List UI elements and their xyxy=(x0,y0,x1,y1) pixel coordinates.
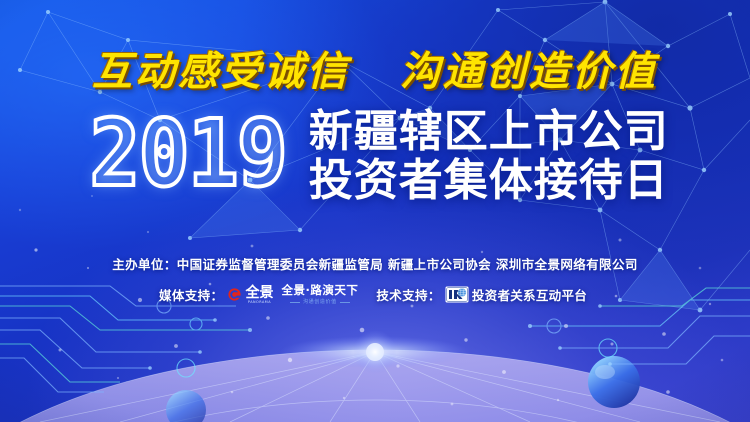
panorama-wordmark: 全景 PANORAMA xyxy=(245,286,273,304)
title-line-2: 投资者集体接待日 xyxy=(309,157,669,204)
panorama-slogan: 全景·路演天下 沟通创造价值 xyxy=(281,285,358,305)
promotional-banner: 互动感受诚信 沟通创造价值 2019 新疆辖区上市公司 投资者集体接待日 主办单… xyxy=(0,0,750,422)
tech-support-label: 技术支持： xyxy=(376,285,441,304)
panorama-name-cn: 全景 xyxy=(245,286,273,300)
main-title: 新疆辖区上市公司 投资者集体接待日 xyxy=(309,108,669,204)
panorama-logo: 全景 PANORAMA xyxy=(227,286,273,304)
slogan-part-2: 沟通创造价值 xyxy=(400,48,658,95)
panorama-swirl-icon xyxy=(227,287,242,302)
title-block: 2019 新疆辖区上市公司 投资者集体接待日 xyxy=(0,108,750,204)
panorama-slogan-main: 全景·路演天下 xyxy=(281,285,358,297)
ir-platform-label: 投资者关系互动平台 xyxy=(472,285,587,304)
panorama-slogan-sub: 沟通创造价值 xyxy=(303,300,337,305)
slogan-rule-right xyxy=(340,302,350,303)
ir-badge-icon xyxy=(445,286,469,303)
slogan-part-1: 互动感受诚信 xyxy=(92,48,350,95)
slogan-rule-left xyxy=(290,302,300,303)
panorama-name-pinyin: PANORAMA xyxy=(248,301,271,304)
title-line-1: 新疆辖区上市公司 xyxy=(309,108,669,155)
slogan-headline: 互动感受诚信 沟通创造价值 xyxy=(0,52,750,92)
banner-content: 互动感受诚信 沟通创造价值 2019 新疆辖区上市公司 投资者集体接待日 主办单… xyxy=(0,0,750,422)
year-2019: 2019 xyxy=(90,112,286,201)
panorama-slogan-sub-wrap: 沟通创造价值 xyxy=(290,300,350,305)
support-row: 媒体支持： 全景 PANORAMA 全景·路演天下 沟通创造价值 技术支持： xyxy=(0,285,750,305)
media-support-label: 媒体支持： xyxy=(159,285,224,304)
organizer-line: 主办单位：中国证券监督管理委员会新疆监管局 新疆上市公司协会 深圳市全景网络有限… xyxy=(0,254,750,273)
ir-logo: 投资者关系互动平台 xyxy=(445,285,587,304)
